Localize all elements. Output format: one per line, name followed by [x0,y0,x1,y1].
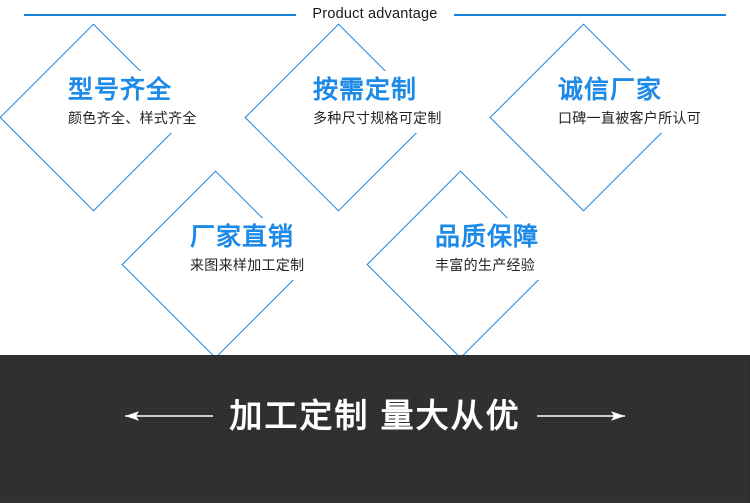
header-rule-left [24,14,296,16]
feature-subtitle: 颜色齐全、样式齐全 [68,108,268,129]
banner-headline-row: 加工定制 量大从优 [0,399,750,432]
feature-labels: 诚信厂家 口碑一直被客户所认可 [553,71,750,133]
arrow-left-icon [123,407,215,425]
feature-labels: 厂家直销 来图来样加工定制 [185,218,390,280]
feature-subtitle: 丰富的生产经验 [435,255,635,276]
feature-card-5: 品质保障 丰富的生产经验 [375,175,625,355]
header-rule-right [454,14,726,16]
feature-labels: 按需定制 多种尺寸规格可定制 [308,71,513,133]
promo-banner: 加工定制 量大从优 款式多样 专业定制 厂家供应 [0,355,750,503]
feature-title: 品质保障 [435,222,635,253]
feature-title: 诚信厂家 [558,75,750,106]
feature-card-4: 厂家直销 来图来样加工定制 [130,175,380,355]
banner-headline: 加工定制 量大从优 [215,399,534,432]
feature-subtitle: 口碑一直被客户所认可 [558,108,750,129]
page-title: Product advantage [296,7,453,22]
feature-title: 按需定制 [313,75,513,106]
feature-subtitle: 多种尺寸规格可定制 [313,108,513,129]
feature-labels: 品质保障 丰富的生产经验 [430,218,635,280]
arrow-right-icon [535,407,627,425]
feature-title: 型号齐全 [68,75,268,106]
feature-diamond-grid: 型号齐全 颜色齐全、样式齐全 按需定制 多种尺寸规格可定制 诚信厂家 口碑一直被… [0,30,750,355]
feature-subtitle: 来图来样加工定制 [190,255,390,276]
feature-title: 厂家直销 [190,222,390,253]
feature-labels: 型号齐全 颜色齐全、样式齐全 [63,71,268,133]
section-header: Product advantage [0,0,750,30]
